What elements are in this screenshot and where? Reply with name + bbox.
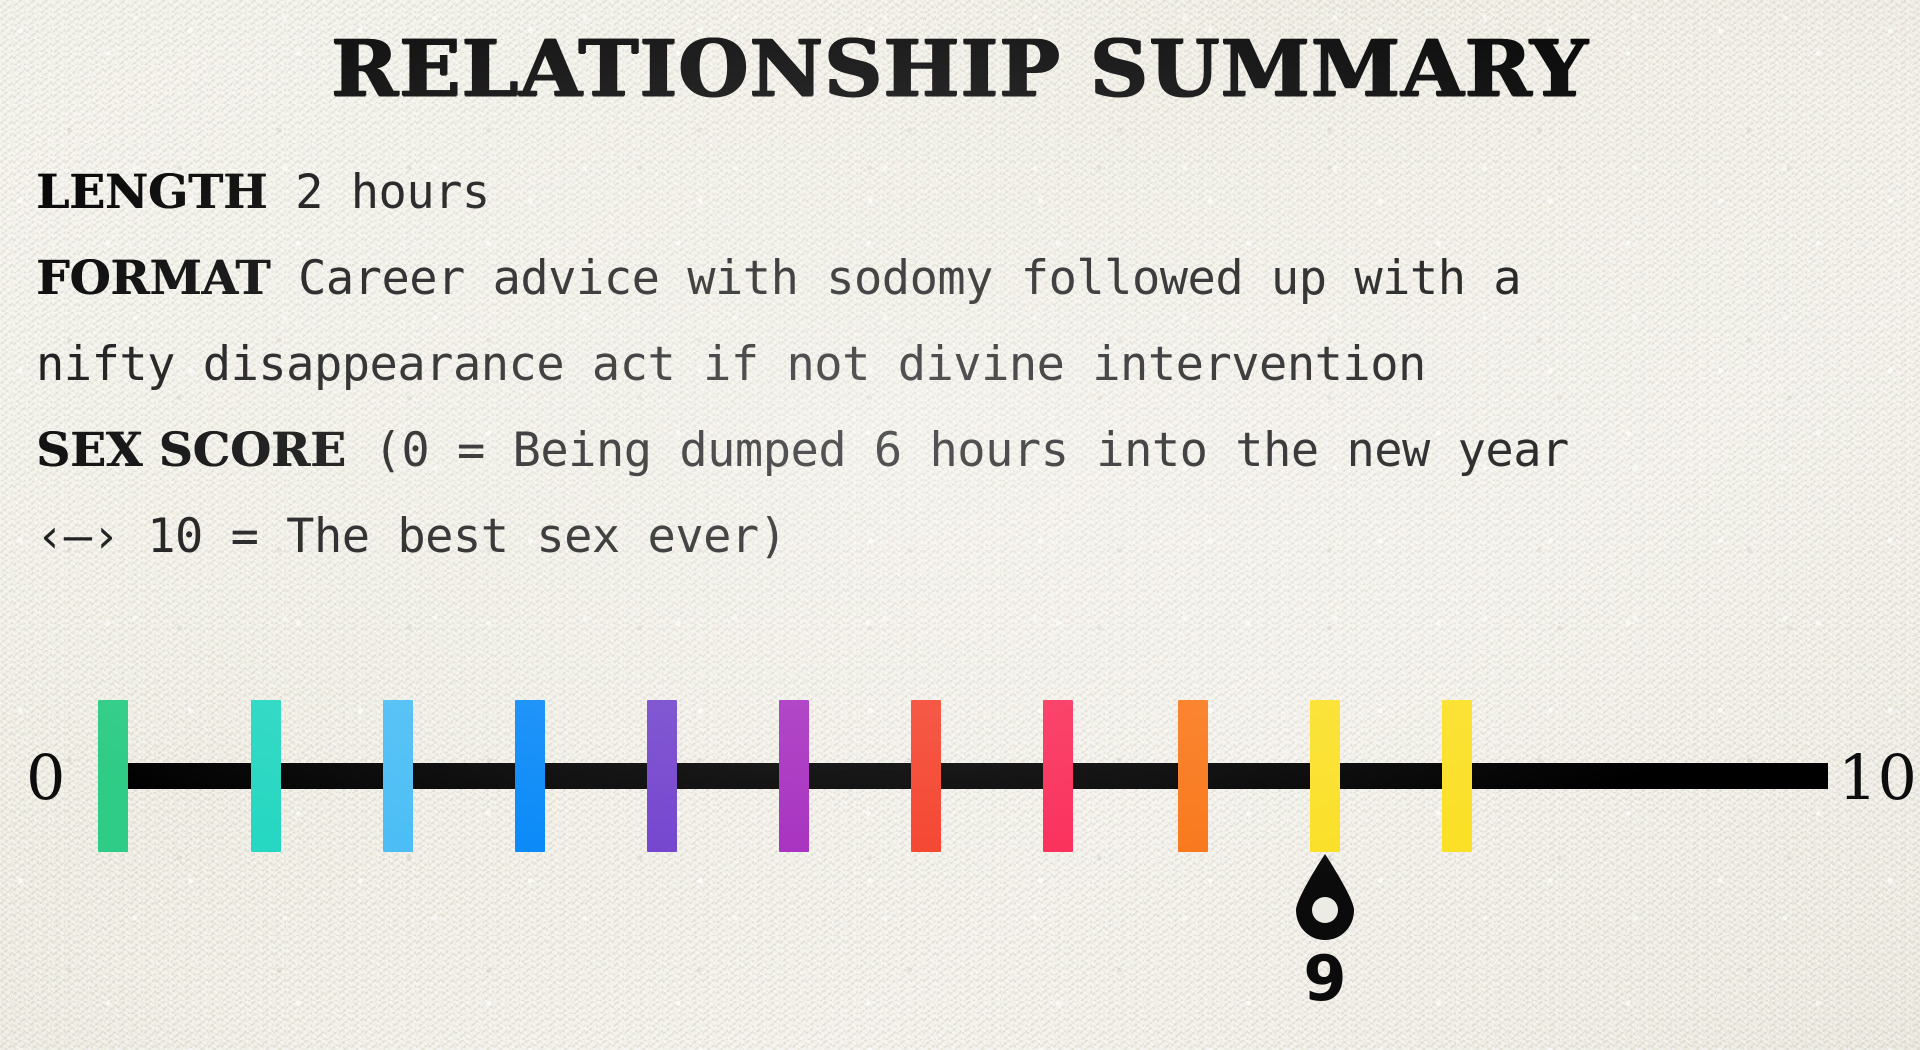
score-marker: 9	[1292, 852, 1358, 1022]
format-label: FORMAT	[36, 251, 270, 306]
double-arrow-icon: ‹—›	[36, 509, 119, 564]
format-row-line-2: nifty disappearance act if not divine in…	[36, 322, 1906, 408]
teardrop-pin-icon	[1292, 852, 1358, 944]
sex-score-row-line-1: SEX SCORE (0 = Being dumped 6 hours into…	[36, 408, 1906, 494]
sex-score-value-line-1: (0 = Being dumped 6 hours into the new y…	[374, 423, 1569, 478]
page-canvas: RELATIONSHIP SUMMARY LENGTH 2 hours FORM…	[0, 0, 1920, 1050]
sex-score-scale: 0 10 9	[0, 700, 1920, 900]
scale-tick	[1043, 700, 1073, 852]
scale-tick	[251, 700, 281, 852]
scale-tick	[911, 700, 941, 852]
score-marker-value: 9	[1292, 948, 1358, 1010]
scale-tick	[383, 700, 413, 852]
sex-score-value-line-2: 10 = The best sex ever)	[147, 509, 786, 564]
scale-tick	[779, 700, 809, 852]
length-value: 2 hours	[295, 165, 490, 220]
format-value-line-1: Career advice with sodomy followed up wi…	[298, 251, 1521, 306]
scale-tick	[647, 700, 677, 852]
scale-max-label: 10	[1838, 747, 1917, 809]
length-label: LENGTH	[36, 165, 267, 220]
format-row-line-1: FORMAT Career advice with sodomy followe…	[36, 236, 1906, 322]
scale-tick	[1442, 700, 1472, 852]
scale-tick	[1178, 700, 1208, 852]
page-title: RELATIONSHIP SUMMARY	[0, 23, 1920, 114]
length-row: LENGTH 2 hours	[36, 150, 1906, 236]
scale-axis-line	[98, 763, 1828, 789]
scale-tick	[98, 700, 128, 852]
scale-tick	[515, 700, 545, 852]
summary-details: LENGTH 2 hours FORMAT Career advice with…	[36, 150, 1906, 580]
sex-score-row-line-2: ‹—› 10 = The best sex ever)	[36, 494, 1906, 580]
format-value-line-2: nifty disappearance act if not divine in…	[36, 337, 1426, 392]
scale-tick	[1310, 700, 1340, 852]
scale-min-label: 0	[26, 747, 65, 809]
sex-score-label: SEX SCORE	[36, 423, 346, 478]
